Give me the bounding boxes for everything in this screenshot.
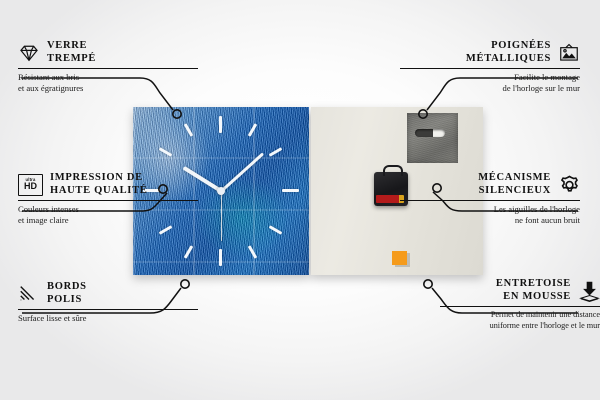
feature-desc-line2: et aux égratignures — [18, 83, 198, 94]
feature-desc-line1: Surface lisse et sûre — [18, 313, 198, 324]
feature-desc-line1: Résistant aux bris — [18, 72, 198, 83]
feature-title-line2: EN MOUSSE — [496, 291, 571, 304]
feature-desc-line2: de l'horloge sur le mur — [400, 83, 580, 94]
divider — [18, 200, 198, 201]
feature-entretoise-en-mousse: ENTRETOISE EN MOUSSE Permet de maintenir… — [440, 278, 600, 331]
feature-title-line2: MÉTALLIQUES — [466, 53, 551, 66]
feature-desc-line2: ne font aucun bruit — [400, 215, 580, 226]
feature-title-line1: VERRE — [47, 40, 96, 53]
feature-title-line2: POLIS — [47, 294, 87, 307]
feature-header: ultra HD IMPRESSION DE HAUTE QUALITÉ — [18, 172, 198, 197]
feature-title-line1: IMPRESSION DE — [50, 172, 148, 185]
feature-header: POIGNÉES MÉTALLIQUES — [400, 40, 580, 65]
divider — [18, 309, 198, 310]
feature-desc-line1: Couleurs intenses — [18, 204, 198, 215]
feature-impression-haute-qualite: ultra HD IMPRESSION DE HAUTE QUALITÉ Cou… — [18, 172, 198, 225]
feature-title-line2: HAUTE QUALITÉ — [50, 185, 148, 198]
arrow-down-onto-stack-icon — [578, 280, 600, 302]
feature-desc-line2: uniforme entre l'horloge et le mur — [440, 321, 600, 332]
feature-title-line1: POIGNÉES — [466, 40, 551, 53]
feature-title-line2: TREMPÉ — [47, 53, 96, 66]
ultra-hd-icon-big-label: HD — [24, 182, 37, 191]
polished-edges-icon — [18, 283, 40, 305]
feature-header: BORDS POLIS — [18, 281, 198, 306]
feature-verre-trempe: VERRE TREMPÉ Résistant aux bris et aux é… — [18, 40, 198, 93]
feature-title-line1: ENTRETOISE — [496, 278, 571, 291]
ultra-hd-icon: ultra HD — [18, 174, 43, 196]
divider — [440, 306, 600, 307]
feature-header: VERRE TREMPÉ — [18, 40, 198, 65]
feature-desc-line1: Les aiguilles de l'horloge — [400, 204, 580, 215]
feature-title-line1: MÉCANISME — [478, 172, 551, 185]
divider — [18, 68, 198, 69]
feature-mecanisme-silencieux: MÉCANISME SILENCIEUX Les aiguilles de l'… — [400, 172, 580, 225]
picture-frame-hanger-icon — [558, 42, 580, 64]
feature-desc-line1: Facilite le montage — [400, 72, 580, 83]
infographic-canvas: VERRE TREMPÉ Résistant aux bris et aux é… — [0, 0, 600, 400]
feature-title-line1: BORDS — [47, 281, 87, 294]
divider — [400, 68, 580, 69]
gear-icon — [558, 174, 580, 196]
divider — [400, 200, 580, 201]
diamond-icon — [18, 42, 40, 64]
feature-header: MÉCANISME SILENCIEUX — [400, 172, 580, 197]
feature-title-line2: SILENCIEUX — [478, 185, 551, 198]
feature-header: ENTRETOISE EN MOUSSE — [440, 278, 600, 303]
feature-poignees-metalliques: POIGNÉES MÉTALLIQUES Facilite le montage… — [400, 40, 580, 93]
feature-desc-line2: et image claire — [18, 215, 198, 226]
feature-bords-polis: BORDS POLIS Surface lisse et sûre — [18, 281, 198, 324]
feature-desc-line1: Permet de maintenir une distance — [440, 310, 600, 321]
